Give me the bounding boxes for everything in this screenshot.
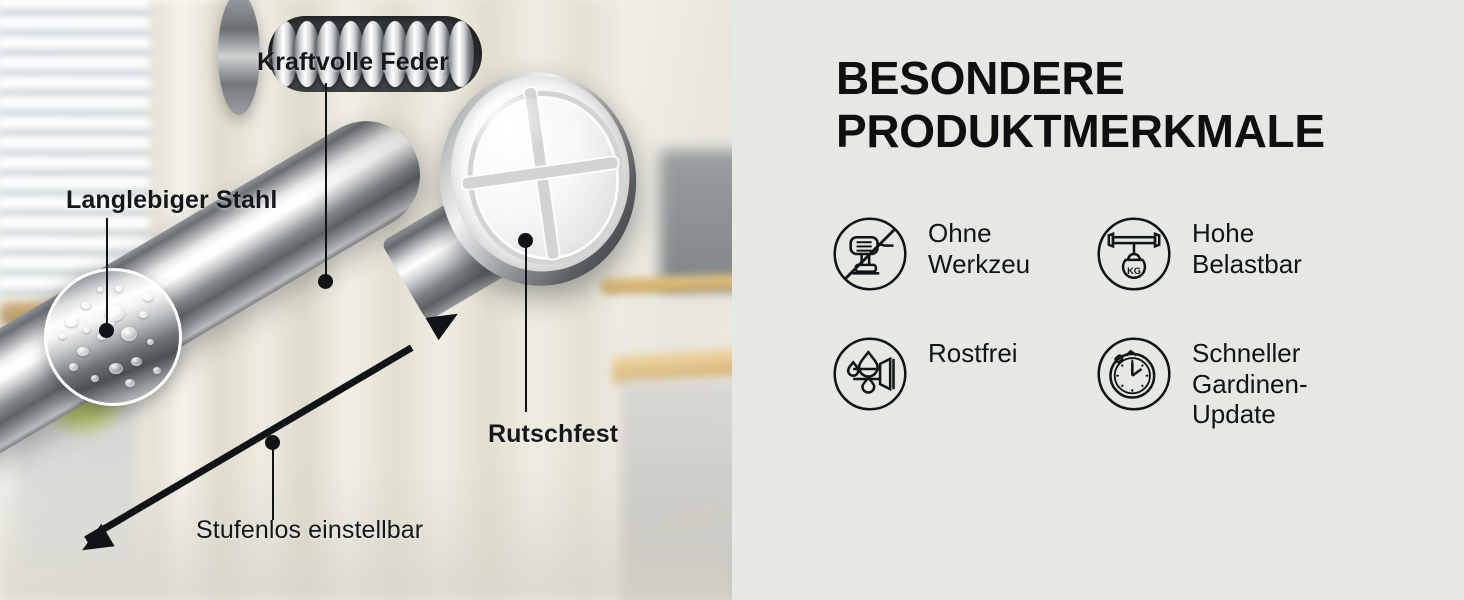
water-droplet [115,285,123,292]
page-title-line-2: PRODUKTMERKMALE [836,105,1436,158]
water-droplet [143,293,153,301]
callout-label-kraftvolle-feder: Kraftvolle Feder [257,48,449,77]
water-droplet [77,347,89,356]
callout-label-rutschfest: Rutschfest [488,420,618,449]
water-droplet [91,375,99,382]
water-droplet [97,287,103,292]
water-droplet [59,333,66,339]
feature-grid: Ohne Werkzeu KG Hohe Belast [828,212,1428,440]
rod-collar-ring [218,0,260,115]
svg-text:KG: KG [1127,266,1141,276]
product-feature-infographic: Kraftvolle Feder Langlebiger Stahl Rutsc… [0,0,1464,600]
no-drill-icon [828,212,912,296]
callout-line-langlebiger-stahl [106,218,108,330]
weight-kg-icon: KG [1092,212,1176,296]
feature-item-ohne-werkzeug: Ohne Werkzeu [828,212,1092,320]
callout-line-rutschfest [525,240,527,412]
feature-item-schneller-update: Schneller Gardinen- Update [1092,332,1356,440]
feature-item-hohe-belastbarkeit: KG Hohe Belastbar [1092,212,1356,320]
callout-dot-rutschfest [518,233,533,248]
water-droplet [153,367,161,374]
product-photo-panel: Kraftvolle Feder Langlebiger Stahl Rutsc… [0,0,732,600]
callout-dot-kraftvolle-feder [318,274,333,289]
feature-label-schneller-update: Schneller Gardinen- Update [1192,332,1308,430]
water-droplet [121,327,137,341]
callout-line-stufenlos [272,444,274,520]
page-title: BESONDERE PRODUKTMERKMALE [836,52,1436,159]
callout-dot-stufenlos [265,435,280,450]
stopwatch-icon [1092,332,1176,416]
feature-item-rostfrei: Rostfrei [828,332,1092,440]
water-drops-icon [828,332,912,416]
water-droplet [69,363,78,371]
callout-line-kraftvolle-feder [325,83,327,281]
feature-label-rostfrei: Rostfrei [928,332,1018,369]
features-panel: BESONDERE PRODUKTMERKMALE [732,0,1464,600]
rubber-end-cap [426,59,650,298]
spring-coil [448,21,474,87]
feature-label-ohne-werkzeug: Ohne Werkzeu [928,212,1030,279]
page-title-line-1: BESONDERE [836,52,1436,105]
callout-dot-langlebiger-stahl [99,323,114,338]
water-droplet [131,357,142,366]
callout-label-stufenlos: Stufenlos einstellbar [196,516,423,545]
callout-label-langlebiger-stahl: Langlebiger Stahl [66,186,277,215]
water-droplet [109,363,123,374]
water-droplet [147,339,154,345]
water-droplet [83,327,90,333]
water-droplet [139,311,148,318]
water-droplet [125,379,135,387]
water-droplet [65,317,78,327]
steel-closeup-inset [44,268,182,406]
feature-label-hohe-belastbarkeit: Hohe Belastbar [1192,212,1302,279]
water-droplet [81,301,91,309]
